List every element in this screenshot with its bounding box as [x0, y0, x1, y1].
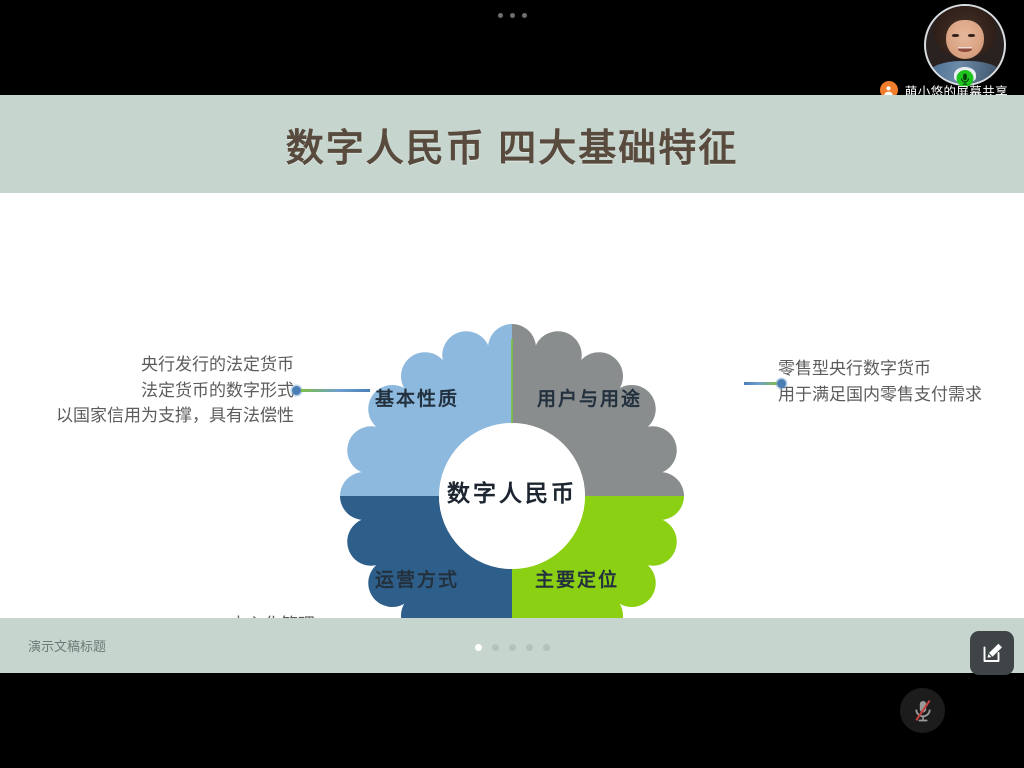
gear-label-users-and-uses: 用户与用途: [537, 384, 642, 411]
page-title: 数字人民币 四大基础特征: [0, 95, 1024, 193]
pagination-dot[interactable]: [509, 644, 516, 651]
annotate-pen-icon: [979, 640, 1005, 666]
dot: [498, 13, 503, 18]
gear-hub-label: 数字人民币: [327, 474, 697, 508]
gear-label-main-positioning: 主要定位: [535, 565, 619, 592]
gear-diagram: 基本性质 用户与用途 运营方式 主要定位 数字人民币: [327, 291, 697, 673]
avatar-mouth: [958, 47, 972, 52]
callout-line: 以国家信用为支撑，具有法偿性: [0, 404, 294, 430]
callout-line: 法定货币的数字形式: [0, 379, 294, 405]
microphone-muted-icon: [912, 698, 934, 724]
slide-pagination[interactable]: [0, 644, 1024, 651]
connector-line: [301, 389, 370, 392]
callout-line: 零售型央行数字货币: [778, 357, 982, 383]
pagination-dot[interactable]: [475, 644, 482, 651]
callout-users-and-uses: 零售型央行数字货币 用于满足国内零售支付需求: [778, 357, 982, 408]
shared-slide: 数字人民币 四大基础特征: [0, 95, 1024, 673]
avatar-eye-left: [952, 34, 959, 37]
meeting-window: 萌小悠的屏幕共享 数字人民币 四大基础特征: [0, 0, 1024, 768]
avatar-eye-right: [968, 34, 975, 37]
dot: [510, 13, 515, 18]
connector-dot: [777, 379, 786, 388]
three-dots-icon[interactable]: [0, 8, 1024, 22]
avatar-face: [946, 20, 983, 59]
gear-label-basic-nature: 基本性质: [375, 384, 459, 411]
gear-label-operation-mode: 运营方式: [375, 565, 459, 592]
slide-body: 基本性质 用户与用途 运营方式 主要定位 数字人民币 央行发行的法定货币 法定货…: [0, 193, 1024, 618]
connector-line: [744, 382, 777, 385]
annotate-button[interactable]: [970, 631, 1014, 675]
connector-users-and-uses: [744, 379, 786, 388]
pagination-dot[interactable]: [492, 644, 499, 651]
dot: [522, 13, 527, 18]
self-view-tile[interactable]: [924, 4, 1006, 86]
callout-basic-nature: 央行发行的法定货币 法定货币的数字形式 以国家信用为支撑，具有法偿性: [0, 353, 300, 430]
pagination-dot[interactable]: [526, 644, 533, 651]
callout-line: 央行发行的法定货币: [0, 353, 294, 379]
connector-basic-nature: [292, 386, 370, 395]
connector-dot: [292, 386, 301, 395]
callout-line: 用于满足国内零售支付需求: [778, 383, 982, 409]
pagination-dot[interactable]: [543, 644, 550, 651]
microphone-muted-button[interactable]: [900, 688, 945, 733]
